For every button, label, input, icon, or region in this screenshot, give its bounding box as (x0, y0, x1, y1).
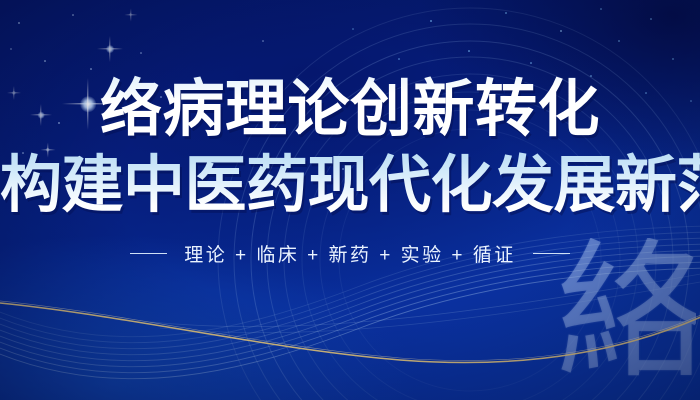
banner-subtitle-row: 理论 + 临床 + 新药 + 实验 + 循证 (0, 240, 700, 267)
banner-content: 络病理论创新转化 构建中医药现代化发展新范式 理论 + 临床 + 新药 + 实验… (0, 0, 700, 400)
promo-banner: 絡 络病理论创新转化 构建中医药现代化发展新范式 理论 + 临床 + 新药 + … (0, 0, 700, 400)
right-rule-divider (533, 253, 570, 255)
banner-title-line-1: 络病理论创新转化 (0, 74, 700, 146)
left-rule-divider (130, 253, 167, 255)
banner-subtitle: 理论 + 临床 + 新药 + 实验 + 循证 (184, 240, 516, 267)
banner-title-line-2: 构建中医药现代化发展新范式 (0, 150, 700, 222)
